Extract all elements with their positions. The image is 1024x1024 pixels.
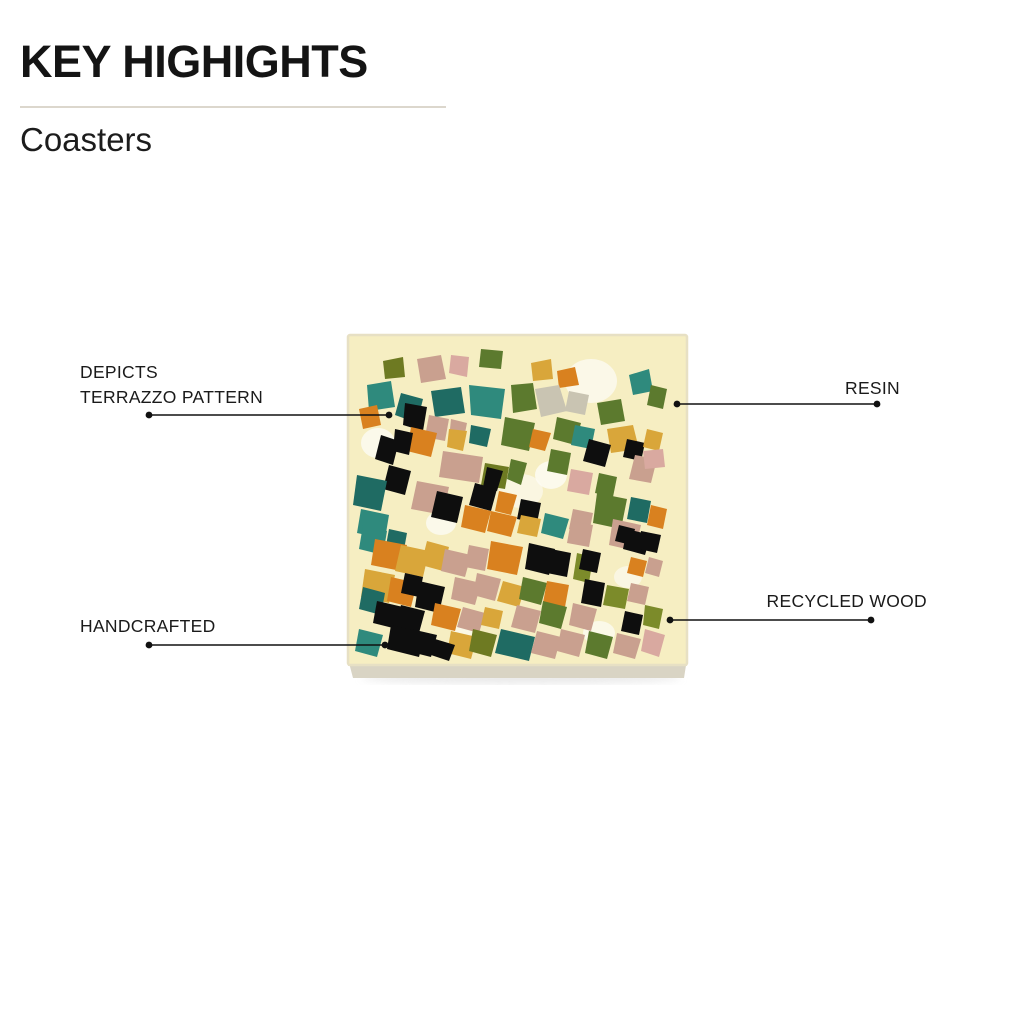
page-subtitle: Coasters: [20, 120, 152, 160]
callout-label-handcrafted: HANDCRAFTED: [80, 614, 216, 639]
callout-leader-resin: [674, 399, 880, 409]
callout-label-resin: RESIN: [700, 376, 900, 401]
product-image-terrazzo-coaster: [345, 333, 690, 685]
title-divider: [20, 106, 446, 108]
key-highlights-page: KEY HIGHIGHTS Coasters: [0, 0, 1024, 1024]
coaster-illustration: [345, 333, 690, 685]
callout-leader-depicts: [146, 410, 392, 420]
callout-leader-recycled-wood: [667, 615, 874, 625]
page-title: KEY HIGHIGHTS: [20, 39, 368, 84]
callout-leader-handcrafted: [146, 640, 388, 650]
callout-label-recycled-wood: RECYCLED WOOD: [640, 589, 927, 614]
callout-label-depicts: DEPICTS TERRAZZO PATTERN: [80, 360, 263, 411]
